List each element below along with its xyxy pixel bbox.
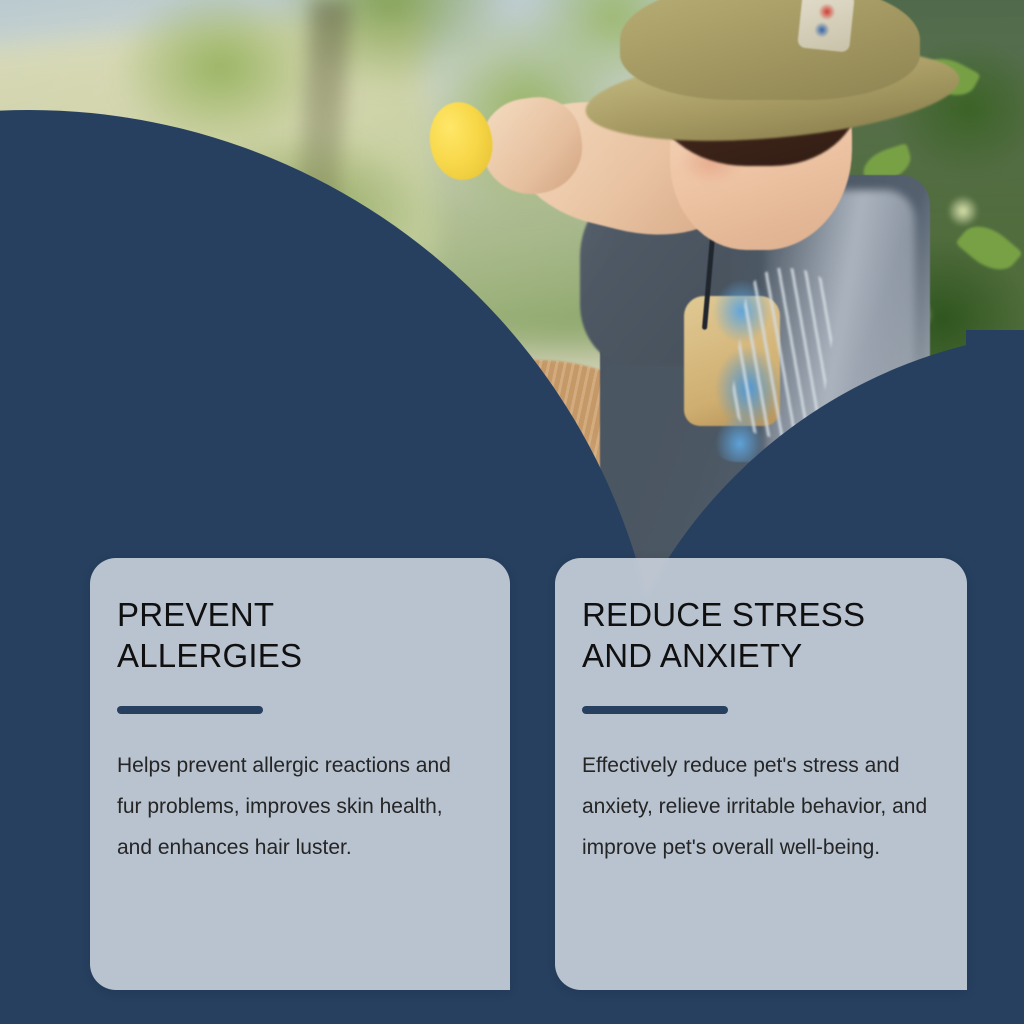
card-title: PREVENT ALLERGIES [117, 594, 488, 676]
bucket-hat [620, 0, 920, 100]
benefit-card-reduce-stress-and-anxiety[interactable]: REDUCE STRESS AND ANXIETY Effectively re… [555, 558, 967, 990]
card-content: REDUCE STRESS AND ANXIETY Effectively re… [582, 594, 945, 868]
benefit-card-prevent-allergies[interactable]: PREVENT ALLERGIES Helps prevent allergic… [90, 558, 510, 990]
card-body-text: Helps prevent allergic reactions and fur… [117, 745, 479, 868]
bucket-hat-patch [797, 0, 855, 53]
card-body-text: Effectively reduce pet's stress and anxi… [582, 745, 934, 868]
card-content: PREVENT ALLERGIES Helps prevent allergic… [117, 594, 488, 868]
card-accent-rule [117, 706, 263, 714]
card-accent-rule [582, 706, 728, 714]
card-title: REDUCE STRESS AND ANXIETY [582, 594, 945, 676]
promo-banner: PREVENT ALLERGIES Helps prevent allergic… [0, 0, 1024, 1024]
